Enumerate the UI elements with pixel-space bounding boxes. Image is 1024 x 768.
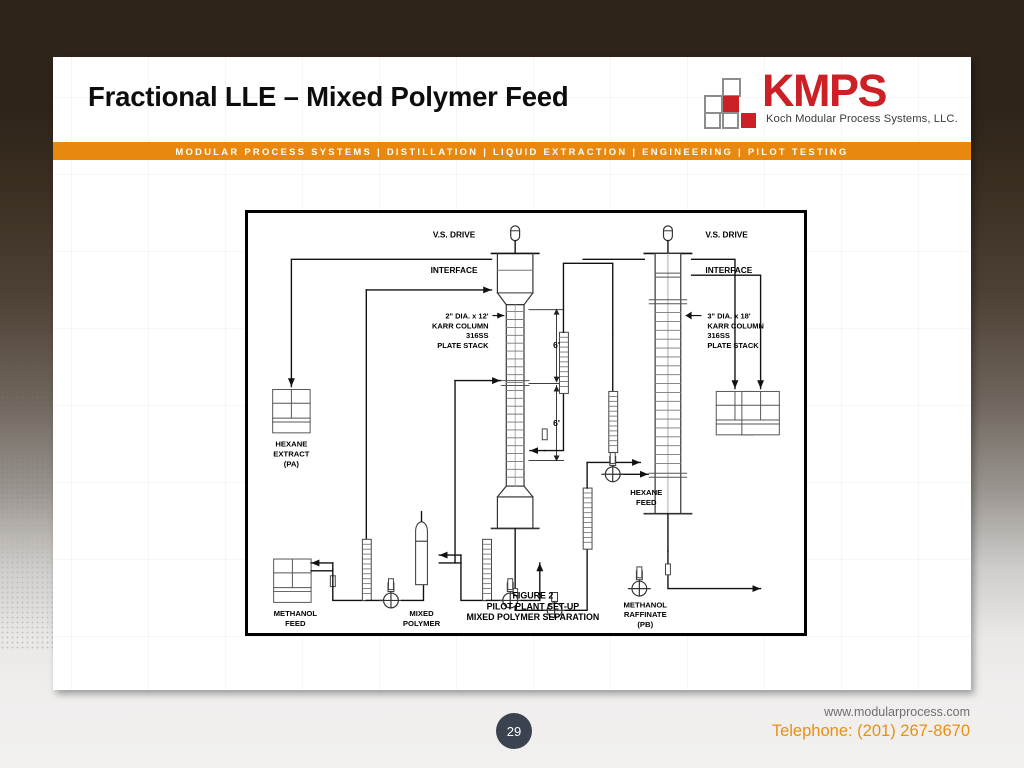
logo-wordmark: KMPS: [762, 68, 886, 113]
svg-text:FEED: FEED: [285, 619, 306, 628]
svg-text:HEXANE: HEXANE: [630, 488, 662, 497]
svg-text:316SS: 316SS: [466, 331, 488, 340]
footer-website[interactable]: www.modularprocess.com: [824, 705, 970, 719]
svg-text:MIXED: MIXED: [409, 609, 434, 618]
services-banner-text: MODULAR PROCESS SYSTEMS | DISTILLATION |…: [175, 146, 848, 157]
label-interface-right: INTERFACE: [705, 266, 752, 275]
svg-text:KARR COLUMN: KARR COLUMN: [432, 321, 489, 330]
svg-text:KARR COLUMN: KARR COLUMN: [707, 321, 764, 330]
pfd-svg: V.S. DRIVE V.S. DRIVE INTERFACE INTERFAC…: [251, 216, 801, 630]
svg-text:PILOT PLANT SET-UP: PILOT PLANT SET-UP: [487, 601, 580, 611]
svg-text:316SS: 316SS: [707, 331, 729, 340]
label-hexane-extract: HEXANE EXTRACT (PA): [273, 440, 310, 469]
svg-text:(2.3% H20): (2.3% H20): [276, 629, 315, 630]
label-dimension-lower: 6': [553, 418, 560, 428]
label-dimension-upper: 6': [553, 340, 560, 350]
page-number-badge: 29: [496, 713, 532, 749]
svg-text:HEXANE: HEXANE: [275, 440, 307, 449]
svg-text:RAFFINATE: RAFFINATE: [624, 610, 667, 619]
logo-tagline: Koch Modular Process Systems, LLC.: [766, 113, 958, 125]
kmps-logo: KMPS Koch Modular Process Systems, LLC.: [704, 70, 959, 132]
label-mixed-polymer-feed: MIXED POLYMER FEED: [403, 609, 441, 630]
label-vs-drive-left: V.S. DRIVE: [433, 231, 476, 240]
page-number: 29: [507, 724, 521, 739]
slide-panel: Fractional LLE – Mixed Polymer Feed KMPS…: [53, 57, 971, 690]
label-interface-left: INTERFACE: [431, 266, 478, 275]
svg-text:PLATE STACK: PLATE STACK: [437, 341, 489, 350]
label-methanol-raffinate: METHANOL RAFFINATE (PB): [624, 600, 668, 629]
label-vs-drive-right: V.S. DRIVE: [705, 231, 748, 240]
svg-text:METHANOL: METHANOL: [274, 609, 318, 618]
label-column-left: 2" DIA. x 12' KARR COLUMN 316SS PLATE ST…: [432, 312, 489, 351]
svg-text:2" DIA. x 12': 2" DIA. x 12': [445, 312, 488, 321]
footer-telephone[interactable]: Telephone: (201) 267-8670: [772, 722, 970, 741]
process-flow-diagram: V.S. DRIVE V.S. DRIVE INTERFACE INTERFAC…: [245, 210, 807, 636]
svg-text:FIGURE 2: FIGURE 2: [512, 590, 553, 600]
svg-text:METHANOL: METHANOL: [624, 600, 668, 609]
label-methanol-feed: METHANOL FEED (2.3% H20): [274, 609, 318, 630]
svg-text:(PB): (PB): [637, 620, 653, 629]
slide-header: Fractional LLE – Mixed Polymer Feed KMPS…: [53, 57, 971, 142]
svg-text:FEED: FEED: [636, 498, 657, 507]
logo-squares-icon: [704, 78, 760, 128]
svg-text:PLATE STACK: PLATE STACK: [707, 341, 759, 350]
svg-text:POLYMER: POLYMER: [403, 619, 441, 628]
svg-text:MIXED POLYMER SEPARATION: MIXED POLYMER SEPARATION: [467, 612, 600, 622]
svg-text:EXTRACT: EXTRACT: [273, 450, 310, 459]
svg-text:(PA): (PA): [284, 459, 300, 468]
services-banner: MODULAR PROCESS SYSTEMS | DISTILLATION |…: [53, 142, 971, 160]
svg-text:FEED: FEED: [411, 629, 432, 630]
svg-text:3" DIA. x 18': 3" DIA. x 18': [707, 312, 750, 321]
page-title: Fractional LLE – Mixed Polymer Feed: [88, 81, 569, 113]
